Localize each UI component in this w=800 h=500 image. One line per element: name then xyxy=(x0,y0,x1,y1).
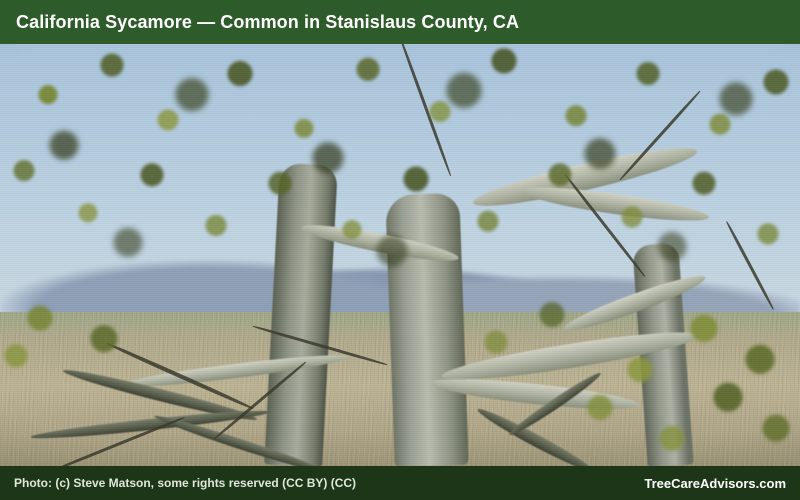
header-bar: California Sycamore — Common in Stanisla… xyxy=(0,0,800,44)
tree-photo xyxy=(0,44,800,466)
page-title: California Sycamore — Common in Stanisla… xyxy=(16,12,519,33)
site-name[interactable]: TreeCareAdvisors.com xyxy=(644,476,786,491)
lower-foliage-layer xyxy=(0,294,800,466)
image-card: California Sycamore — Common in Stanisla… xyxy=(0,0,800,500)
photo-credit: Photo: (c) Steve Matson, some rights res… xyxy=(14,476,356,490)
footer-bar: Photo: (c) Steve Matson, some rights res… xyxy=(0,466,800,500)
